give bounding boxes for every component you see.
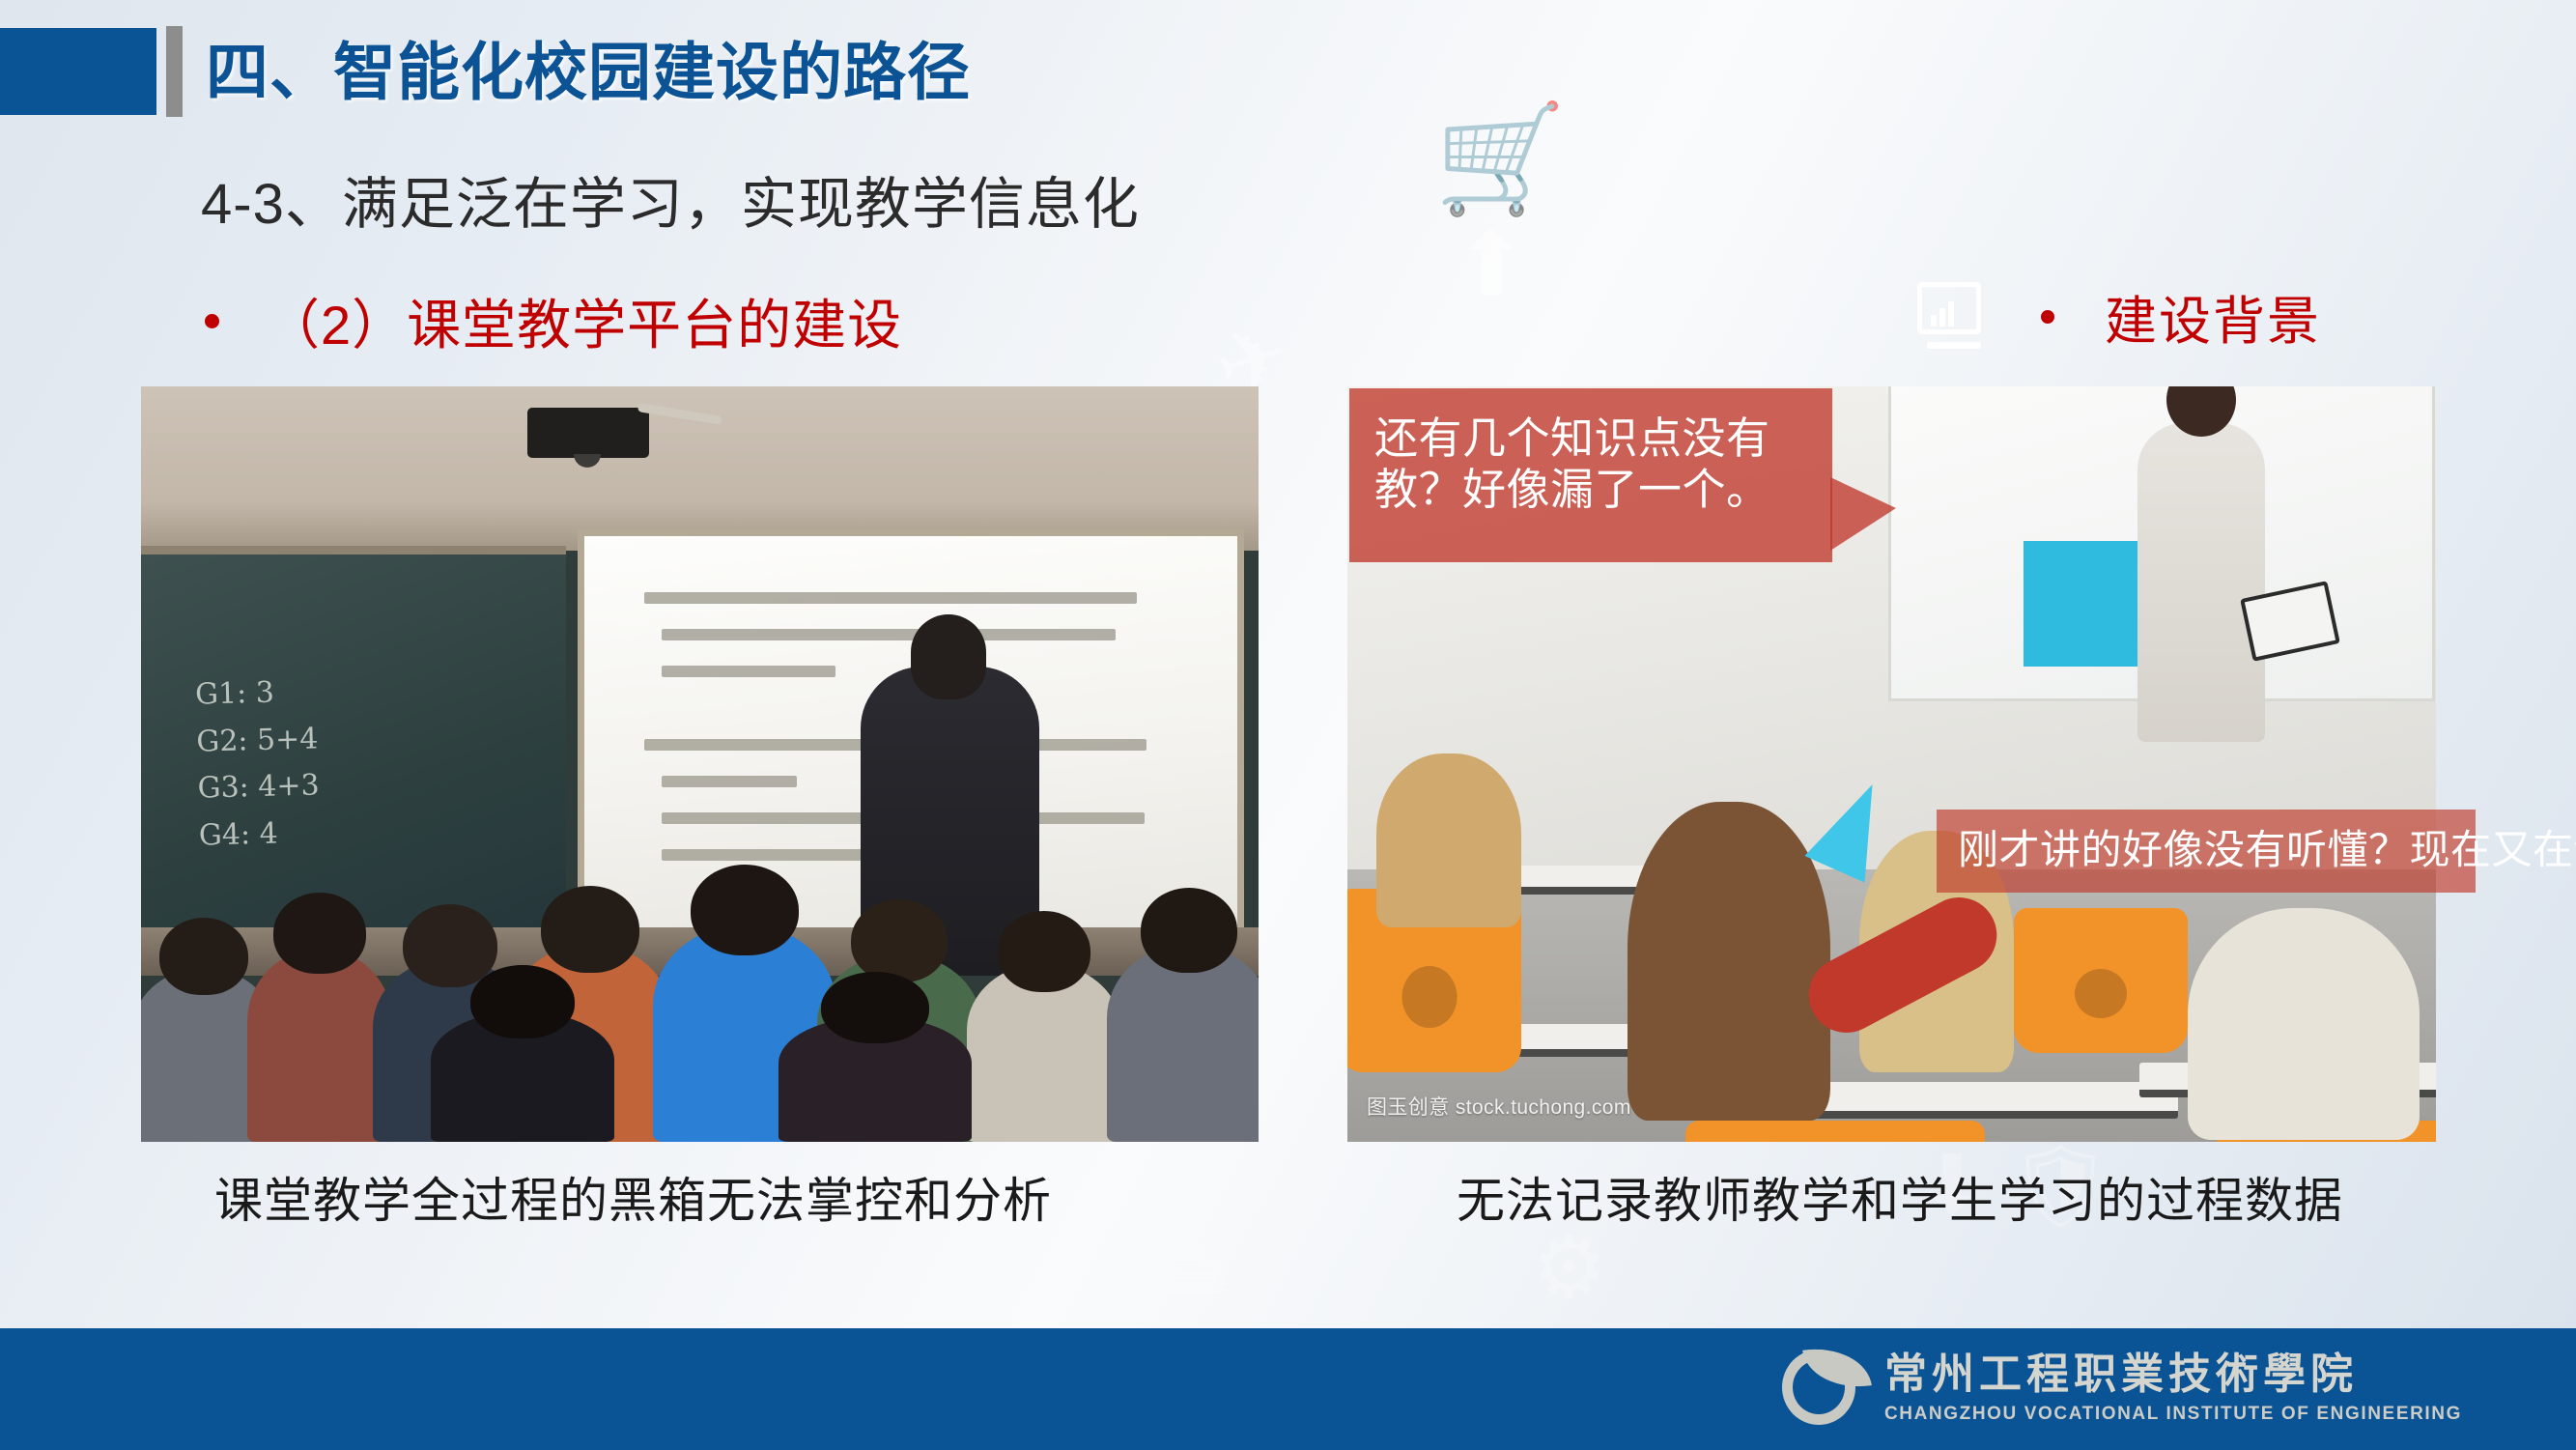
page-subtitle: 4-3、满足泛在学习，实现教学信息化 [201, 158, 1140, 240]
callout-student-thought: 刚才讲的好像没有听懂？现在又在讲什么鬼？ [1937, 810, 2476, 893]
stock-watermark: 图玉创意 stock.tuchong.com [1367, 1092, 1631, 1121]
header-accent-bar [166, 26, 183, 117]
section-bullet: （2）课堂教学平台的建设 [205, 282, 902, 360]
cart-icon: 🛒 [1434, 106, 1567, 213]
photo-classroom-lecture: G1: 3 G2: 5+4 G3: 4+3 G4: 4 [141, 386, 1259, 1142]
callout-teacher-thought: 还有几个知识点没有教？好像漏了一个。 [1349, 388, 1832, 562]
coffee-cup-icon: ☕ [1154, 1222, 1233, 1311]
bullet-dot-icon [205, 314, 219, 328]
background-tag-label: 建设背景 [2105, 278, 2321, 355]
gear-icon: ⚙ [1531, 1225, 1607, 1310]
header-accent-square [0, 28, 156, 115]
monitor-chart-icon [1917, 282, 1989, 352]
chair [1685, 1121, 1985, 1142]
logo-emblem-icon [1776, 1342, 1869, 1435]
callout-student-text: 刚才讲的好像没有听懂？现在又在讲什么鬼？ [1958, 825, 2458, 875]
caption-right: 无法记录教师教学和学生学习的过程数据 [1457, 1162, 2343, 1232]
page-title: 四、智能化校园建设的路径 [206, 21, 971, 112]
tag-bullet-dot-icon [2041, 310, 2054, 324]
teacher-figure [2137, 423, 2265, 742]
footer-bar: 常州工程职業技術學院 CHANGZHOU VOCATIONAL INSTITUT… [0, 1328, 2576, 1450]
photo-wall [141, 386, 1259, 551]
logo-name-cn: 常州工程职業技術學院 [1884, 1351, 2462, 1398]
student-figure [2188, 908, 2420, 1140]
background-tag: 建设背景 [1917, 278, 2321, 355]
projector-icon [527, 408, 649, 458]
institution-logo: 常州工程职業技術學院 CHANGZHOU VOCATIONAL INSTITUT… [1776, 1342, 2462, 1435]
caption-left: 课堂教学全过程的黑箱无法掌控和分析 [214, 1162, 1052, 1232]
section-bullet-label: （2）课堂教学平台的建设 [266, 282, 902, 360]
student-figure [1628, 802, 1830, 1121]
up-arrow-icon: ⬆ [1454, 220, 1528, 309]
callout-tail-icon [1830, 477, 1896, 551]
callout-teacher-text: 还有几个知识点没有教？好像漏了一个。 [1374, 413, 1805, 515]
slide-root: 🛒 ⬆ ✈ 📄 ☕ ⚙ 🛡 💬 ⬇ 四、智能化校园建设的路径 4-3、满足泛在学… [0, 0, 2576, 1450]
logo-name-en: CHANGZHOU VOCATIONAL INSTITUTE OF ENGINE… [1884, 1404, 2462, 1425]
chair [2014, 908, 2188, 1053]
student-figure [1376, 753, 1521, 927]
students-row [141, 823, 1259, 1142]
